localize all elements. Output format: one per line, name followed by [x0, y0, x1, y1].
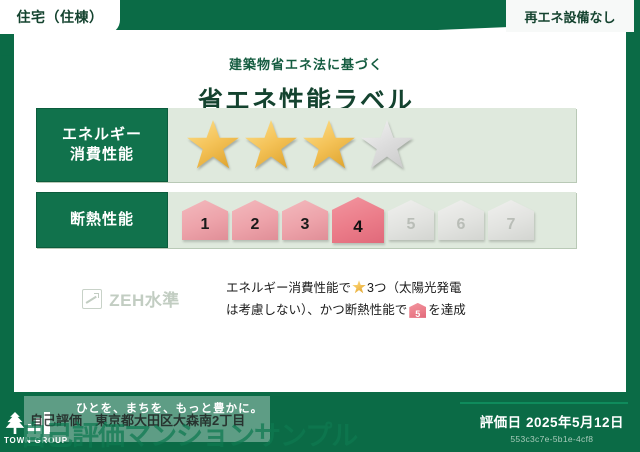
- house-level-active: 2: [232, 200, 278, 240]
- house-level-inactive: 6: [438, 200, 484, 240]
- row-insulation-performance: 断熱性能 1234567: [36, 192, 576, 248]
- note-line2-post: を達成: [428, 303, 466, 317]
- zeh-standard-indicator: ZEH水準: [36, 272, 226, 311]
- house-level-number: 4: [353, 217, 362, 243]
- evaluation-id: 553c3c7e-5b1e-4cf8: [480, 434, 624, 444]
- logo-text: TOWN GROUP: [4, 436, 76, 445]
- badge-renewable-energy: 再エネ設備なし: [506, 0, 634, 32]
- badge-building-type: 住宅（住棟）: [0, 0, 120, 34]
- logo-bars: [28, 412, 50, 434]
- house-level-number: 7: [507, 216, 516, 240]
- star-filled-icon: [302, 119, 356, 171]
- logo-bar: [44, 412, 50, 434]
- evaluation-info: 評価日 2025年5月12日 553c3c7e-5b1e-4cf8: [480, 411, 624, 444]
- note-line1-pre: エネルギー消費性能で: [226, 281, 351, 295]
- row-energy-label-line1: エネルギー: [62, 125, 142, 145]
- note-line1-post: 3つ（太陽光発電: [367, 281, 461, 295]
- badge-renewable-energy-label: 再エネ設備なし: [524, 7, 615, 26]
- house-level-number: 1: [201, 216, 210, 240]
- insulation-level-scale: 1234567: [168, 192, 576, 248]
- row-insulation-label: 断熱性能: [36, 192, 168, 248]
- house-level-active: 1: [182, 200, 228, 240]
- house-level-number: 5: [407, 216, 416, 240]
- star-shape: [360, 119, 414, 171]
- logo-bar: [36, 418, 42, 434]
- house-level-number: 2: [251, 216, 260, 240]
- achievement-note: エネルギー消費性能で3つ（太陽光発電 は考慮しない）、かつ断熱性能で5を達成: [226, 272, 592, 322]
- house-level-number: 6: [457, 216, 466, 240]
- title-subtitle: 建築物省エネ法に基づく: [0, 54, 612, 73]
- logo-mark: [4, 410, 76, 434]
- star-rating: [168, 108, 576, 182]
- row-energy-performance: エネルギー 消費性能: [36, 108, 576, 182]
- zeh-chart-icon: [82, 289, 102, 309]
- rating-rows: エネルギー 消費性能 断熱性能 1234567: [36, 108, 576, 258]
- inline-house-level: 5: [415, 309, 420, 319]
- star-empty-icon: [360, 119, 414, 171]
- house-level-active: 3: [282, 200, 328, 240]
- star-filled-icon: [186, 119, 240, 171]
- row-energy-label-line2: 消費性能: [70, 145, 134, 165]
- house-level-achieved: 4: [332, 197, 384, 243]
- row-insulation-label-line1: 断熱性能: [70, 210, 134, 230]
- star-shape: [186, 119, 240, 171]
- company-tagline: ひとを、まちを、もっと豊かに。: [76, 400, 263, 416]
- row-energy-label: エネルギー 消費性能: [36, 108, 168, 182]
- house-level-inactive: 7: [488, 200, 534, 240]
- evaluation-date: 評価日 2025年5月12日: [480, 411, 624, 431]
- star-shape: [302, 119, 356, 171]
- tree-icon: [4, 412, 26, 434]
- inline-house-chip: 5: [409, 303, 426, 318]
- note-line2-pre: は考慮しない）、かつ断熱性能で: [226, 303, 407, 317]
- energy-label-screenshot: 住宅（住棟） 再エネ設備なし 建築物省エネ法に基づく 省エネ性能ラベル エネルギ…: [0, 0, 640, 452]
- town-group-logo: TOWN GROUP: [4, 410, 76, 445]
- badge-building-type-label: 住宅（住棟）: [17, 7, 104, 27]
- star-shape: [244, 119, 298, 171]
- zeh-and-note-section: ZEH水準 エネルギー消費性能で3つ（太陽光発電 は考慮しない）、かつ断熱性能で…: [36, 272, 592, 322]
- inline-star-icon: [352, 280, 366, 294]
- logo-bar: [28, 424, 34, 434]
- zeh-standard-label: ZEH水準: [109, 286, 180, 311]
- house-level-number: 3: [301, 216, 310, 240]
- footer-divider: [460, 402, 628, 404]
- star-filled-icon: [244, 119, 298, 171]
- house-level-inactive: 5: [388, 200, 434, 240]
